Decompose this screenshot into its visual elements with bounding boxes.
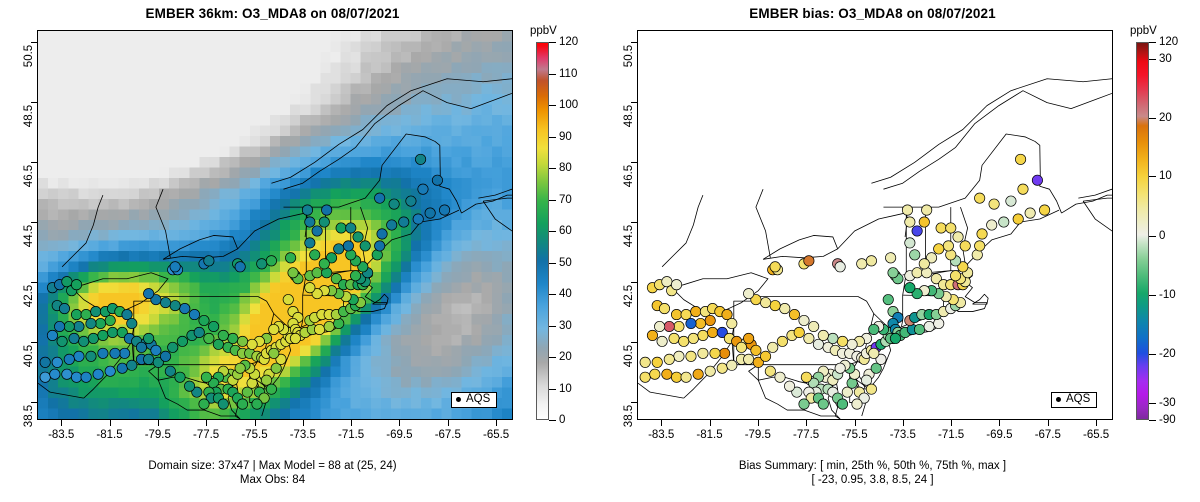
aqs-station-marker[interactable]	[415, 154, 425, 164]
bias-caption: Bias Summary: [ min, 25th %, 50th %, 75t…	[600, 459, 1145, 487]
colorbar-tick	[549, 168, 556, 169]
aqs-station-marker[interactable]	[74, 351, 84, 361]
y-axis-tick-label: 44.5	[23, 220, 35, 252]
aqs-station-marker[interactable]	[919, 217, 929, 227]
aqs-station-marker[interactable]	[353, 232, 363, 242]
colorbar-tick	[549, 326, 556, 327]
bias-aqs-legend: AQS	[1051, 392, 1097, 408]
aqs-station-marker[interactable]	[288, 268, 298, 278]
aqs-station-marker[interactable]	[180, 303, 190, 313]
colorbar-tick-label: 80	[559, 162, 572, 174]
aqs-station-marker[interactable]	[736, 342, 746, 352]
colorbar-tick	[549, 231, 556, 232]
aqs-station-marker[interactable]	[705, 315, 715, 325]
colorbar-tick-label: 30	[559, 320, 572, 332]
figure-canvas: EMBER 36km: O3_MDA8 on 08/07/2021 AQS pp…	[0, 0, 1200, 502]
aqs-station-marker[interactable]	[360, 241, 370, 251]
model-colorbar-strip	[536, 42, 549, 420]
aqs-station-marker[interactable]	[919, 259, 929, 269]
aqs-station-marker[interactable]	[52, 357, 62, 367]
aqs-station-marker[interactable]	[98, 330, 108, 340]
aqs-station-marker[interactable]	[727, 318, 737, 328]
aqs-station-marker[interactable]	[235, 363, 245, 373]
aqs-station-marker[interactable]	[334, 244, 344, 254]
aqs-station-marker[interactable]	[671, 309, 681, 319]
aqs-station-marker[interactable]	[710, 348, 720, 358]
aqs-station-marker[interactable]	[974, 241, 984, 251]
aqs-station-marker[interactable]	[170, 262, 180, 272]
aqs-station-marker[interactable]	[751, 345, 761, 355]
aqs-station-marker[interactable]	[866, 256, 876, 266]
aqs-station-marker[interactable]	[910, 250, 920, 260]
aqs-station-marker[interactable]	[686, 318, 696, 328]
aqs-station-marker[interactable]	[671, 372, 681, 382]
aqs-station-marker[interactable]	[801, 372, 811, 382]
x-axis-tick	[661, 420, 662, 426]
bias-colorbar-strip	[1136, 42, 1149, 420]
aqs-station-marker[interactable]	[235, 262, 245, 272]
aqs-station-marker[interactable]	[912, 268, 922, 278]
colorbar-tick	[1149, 403, 1156, 404]
aqs-station-marker[interactable]	[890, 333, 900, 343]
x-axis-tick	[255, 420, 256, 426]
aqs-station-marker[interactable]	[698, 348, 708, 358]
y-axis-tick-label: 48.5	[23, 100, 35, 132]
map-boundary-line	[62, 195, 103, 267]
model-aqs-legend: AQS	[451, 392, 497, 408]
aqs-station-marker[interactable]	[905, 238, 915, 248]
aqs-station-marker[interactable]	[674, 321, 684, 331]
aqs-station-marker[interactable]	[86, 351, 96, 361]
aqs-station-marker[interactable]	[160, 297, 170, 307]
aqs-station-marker[interactable]	[143, 333, 153, 343]
colorbar-tick-label: -90	[1159, 414, 1176, 426]
aqs-station-marker[interactable]	[835, 363, 845, 373]
aqs-station-marker[interactable]	[784, 381, 794, 391]
aqs-station-marker[interactable]	[1039, 205, 1049, 215]
aqs-station-marker[interactable]	[305, 217, 315, 227]
aqs-station-marker[interactable]	[194, 327, 204, 337]
aqs-station-marker[interactable]	[999, 217, 1009, 227]
bias-caption-line2: [ -23, 0.95, 3.8, 8.5, 24 ]	[600, 473, 1145, 487]
aqs-station-marker[interactable]	[659, 303, 669, 313]
aqs-station-marker[interactable]	[343, 241, 353, 251]
aqs-station-marker[interactable]	[946, 223, 956, 233]
aqs-station-marker[interactable]	[818, 330, 828, 340]
aqs-dot-icon	[1056, 397, 1061, 402]
aqs-station-marker[interactable]	[319, 259, 329, 269]
aqs-station-marker[interactable]	[777, 336, 787, 346]
aqs-station-marker[interactable]	[62, 369, 72, 379]
aqs-station-marker[interactable]	[717, 363, 727, 373]
aqs-station-marker[interactable]	[432, 175, 442, 185]
aqs-station-marker[interactable]	[127, 318, 137, 328]
aqs-station-marker[interactable]	[770, 262, 780, 272]
aqs-station-marker[interactable]	[698, 330, 708, 340]
aqs-station-marker[interactable]	[691, 306, 701, 316]
colorbar-tick-label: 10	[559, 383, 572, 395]
aqs-station-marker[interactable]	[218, 399, 228, 409]
aqs-station-marker[interactable]	[247, 339, 257, 349]
panel-model-title: EMBER 36km: O3_MDA8 on 08/07/2021	[0, 6, 545, 21]
colorbar-tick-label: 120	[559, 36, 578, 48]
aqs-station-marker[interactable]	[905, 283, 915, 293]
x-axis-tick	[806, 420, 807, 426]
aqs-station-marker[interactable]	[1032, 175, 1042, 185]
aqs-station-marker[interactable]	[389, 199, 399, 209]
x-axis-tick	[855, 420, 856, 426]
colorbar-tick	[549, 357, 556, 358]
aqs-station-marker[interactable]	[237, 399, 247, 409]
aqs-station-marker[interactable]	[71, 372, 81, 382]
y-axis-tick-label: 40.5	[623, 340, 635, 372]
aqs-station-marker[interactable]	[775, 372, 785, 382]
model-aqs-legend-label: AQS	[466, 394, 490, 406]
aqs-station-marker[interactable]	[310, 250, 320, 260]
aqs-station-marker[interactable]	[922, 205, 932, 215]
aqs-station-marker[interactable]	[804, 256, 814, 266]
aqs-station-marker[interactable]	[679, 336, 689, 346]
map-boundary-line	[483, 147, 512, 201]
aqs-station-marker[interactable]	[727, 360, 737, 370]
aqs-station-marker[interactable]	[74, 321, 84, 331]
aqs-station-marker[interactable]	[160, 351, 170, 361]
x-axis-tick	[303, 420, 304, 426]
aqs-station-marker[interactable]	[960, 241, 970, 251]
aqs-station-marker[interactable]	[228, 333, 238, 343]
aqs-station-marker[interactable]	[847, 339, 857, 349]
aqs-station-marker[interactable]	[69, 333, 79, 343]
model-colorbar-units: ppbV	[530, 25, 557, 37]
colorbar-tick	[1149, 236, 1156, 237]
aqs-station-marker[interactable]	[1006, 196, 1016, 206]
model-caption-line2: Max Obs: 84	[0, 473, 545, 487]
aqs-station-marker[interactable]	[902, 205, 912, 215]
aqs-station-marker[interactable]	[943, 241, 953, 251]
aqs-station-marker[interactable]	[64, 354, 74, 364]
aqs-station-marker[interactable]	[743, 354, 753, 364]
map-boundary-line	[638, 383, 684, 398]
bias-caption-line1: Bias Summary: [ min, 25th %, 50th %, 75t…	[600, 459, 1145, 473]
colorbar-tick	[549, 137, 556, 138]
aqs-station-marker[interactable]	[168, 342, 178, 352]
bias-map-plot[interactable]	[637, 30, 1113, 420]
map-boundary-line	[871, 79, 1112, 183]
aqs-station-marker[interactable]	[204, 256, 214, 266]
aqs-station-marker[interactable]	[93, 369, 103, 379]
aqs-station-marker[interactable]	[374, 241, 384, 251]
aqs-station-marker[interactable]	[201, 372, 211, 382]
aqs-station-marker[interactable]	[664, 354, 674, 364]
x-axis-tick	[61, 420, 62, 426]
aqs-station-marker[interactable]	[799, 315, 809, 325]
aqs-station-marker[interactable]	[54, 321, 64, 331]
aqs-station-marker[interactable]	[837, 336, 847, 346]
aqs-station-marker[interactable]	[175, 372, 185, 382]
aqs-station-marker[interactable]	[283, 294, 293, 304]
y-axis-tick-label: 46.5	[623, 160, 635, 192]
aqs-station-marker[interactable]	[257, 259, 267, 269]
aqs-station-marker[interactable]	[117, 363, 127, 373]
aqs-station-marker[interactable]	[305, 238, 315, 248]
aqs-station-marker[interactable]	[765, 366, 775, 376]
aqs-station-marker[interactable]	[695, 318, 705, 328]
y-axis-tick-label: 42.5	[23, 280, 35, 312]
aqs-station-marker[interactable]	[640, 357, 650, 367]
aqs-station-marker[interactable]	[119, 348, 129, 358]
aqs-station-marker[interactable]	[189, 309, 199, 319]
panel-bias-title: EMBER bias: O3_MDA8 on 08/07/2021	[600, 6, 1145, 21]
aqs-station-marker[interactable]	[857, 259, 867, 269]
aqs-station-marker[interactable]	[989, 199, 999, 209]
aqs-station-marker[interactable]	[869, 348, 879, 358]
aqs-station-marker[interactable]	[654, 321, 664, 331]
aqs-station-marker[interactable]	[934, 244, 944, 254]
aqs-station-marker[interactable]	[406, 196, 416, 206]
aqs-station-marker[interactable]	[336, 223, 346, 233]
colorbar-tick	[549, 200, 556, 201]
aqs-station-marker[interactable]	[413, 214, 423, 224]
model-map-plot[interactable]	[37, 30, 513, 420]
colorbar-tick-label: 0	[1159, 230, 1165, 242]
aqs-station-marker[interactable]	[98, 348, 108, 358]
aqs-station-marker[interactable]	[95, 318, 105, 328]
aqs-station-marker[interactable]	[269, 324, 279, 334]
aqs-station-marker[interactable]	[671, 280, 681, 290]
colorbar-tick	[1149, 118, 1156, 119]
map-boundary-line	[662, 195, 703, 267]
aqs-station-marker[interactable]	[987, 220, 997, 230]
aqs-station-marker[interactable]	[760, 351, 770, 361]
x-axis-tick-label: -65.5	[1066, 429, 1126, 441]
aqs-station-marker[interactable]	[885, 253, 895, 263]
aqs-station-marker[interactable]	[974, 193, 984, 203]
aqs-station-marker[interactable]	[290, 333, 300, 343]
aqs-station-marker[interactable]	[88, 333, 98, 343]
aqs-station-marker[interactable]	[105, 315, 115, 325]
aqs-station-marker[interactable]	[693, 369, 703, 379]
x-axis-tick	[999, 420, 1000, 426]
aqs-station-marker[interactable]	[912, 226, 922, 236]
aqs-station-marker[interactable]	[662, 369, 672, 379]
aqs-station-marker[interactable]	[647, 330, 657, 340]
bias-colorbar-units: ppbV	[1130, 25, 1157, 37]
colorbar-tick	[1149, 420, 1156, 421]
aqs-station-marker[interactable]	[71, 280, 81, 290]
aqs-station-marker[interactable]	[399, 217, 409, 227]
aqs-station-marker[interactable]	[804, 333, 814, 343]
y-axis-tick-label: 50.5	[23, 40, 35, 72]
aqs-station-marker[interactable]	[266, 256, 276, 266]
aqs-station-marker[interactable]	[312, 268, 322, 278]
colorbar-tick-label: 20	[559, 351, 572, 363]
colorbar-tick-label: 30	[1159, 53, 1172, 65]
aqs-station-marker[interactable]	[888, 268, 898, 278]
map-boundary-line	[271, 79, 512, 183]
aqs-station-marker[interactable]	[252, 399, 262, 409]
aqs-station-marker[interactable]	[266, 384, 276, 394]
aqs-station-marker[interactable]	[425, 208, 435, 218]
aqs-station-marker[interactable]	[50, 369, 60, 379]
aqs-station-marker[interactable]	[760, 297, 770, 307]
aqs-station-marker[interactable]	[91, 306, 101, 316]
colorbar-tick-label: 10	[1159, 170, 1172, 182]
aqs-station-marker[interactable]	[914, 324, 924, 334]
aqs-station-marker[interactable]	[177, 336, 187, 346]
aqs-station-marker[interactable]	[1025, 208, 1035, 218]
aqs-station-marker[interactable]	[924, 321, 934, 331]
aqs-station-marker[interactable]	[143, 354, 153, 364]
aqs-station-marker[interactable]	[688, 333, 698, 343]
colorbar-tick	[1149, 295, 1156, 296]
aqs-station-marker[interactable]	[302, 205, 312, 215]
aqs-station-marker[interactable]	[346, 223, 356, 233]
aqs-station-marker[interactable]	[285, 253, 295, 263]
colorbar-tick	[1149, 42, 1156, 43]
aqs-station-marker[interactable]	[743, 333, 753, 343]
aqs-station-marker[interactable]	[40, 372, 50, 382]
aqs-station-marker[interactable]	[86, 318, 96, 328]
aqs-station-marker[interactable]	[151, 345, 161, 355]
colorbar-tick	[1149, 59, 1156, 60]
colorbar-tick-label: -20	[1159, 348, 1176, 360]
map-boundary-line	[163, 235, 238, 259]
aqs-station-marker[interactable]	[953, 232, 963, 242]
aqs-station-marker[interactable]	[418, 184, 428, 194]
aqs-station-marker[interactable]	[789, 309, 799, 319]
colorbar-tick-label: -10	[1159, 289, 1176, 301]
aqs-station-marker[interactable]	[143, 288, 153, 298]
aqs-station-marker[interactable]	[170, 300, 180, 310]
aqs-station-marker[interactable]	[237, 336, 247, 346]
aqs-station-marker[interactable]	[1015, 154, 1025, 164]
aqs-station-marker[interactable]	[657, 336, 667, 346]
aqs-dot-icon	[456, 397, 461, 402]
aqs-station-marker[interactable]	[869, 324, 879, 334]
aqs-station-marker[interactable]	[950, 271, 960, 281]
aqs-station-marker[interactable]	[705, 366, 715, 376]
map-boundary-line	[756, 189, 770, 258]
aqs-station-marker[interactable]	[59, 303, 69, 313]
y-axis-tick-label: 40.5	[23, 340, 35, 372]
aqs-station-marker[interactable]	[1013, 214, 1023, 224]
aqs-station-marker[interactable]	[79, 336, 89, 346]
colorbar-tick	[549, 420, 556, 421]
colorbar-tick	[1149, 176, 1156, 177]
aqs-station-marker[interactable]	[866, 384, 876, 394]
aqs-station-marker[interactable]	[305, 283, 315, 293]
aqs-station-marker[interactable]	[905, 217, 915, 227]
aqs-station-marker[interactable]	[322, 205, 332, 215]
aqs-station-marker[interactable]	[837, 399, 847, 409]
aqs-station-marker[interactable]	[47, 330, 57, 340]
aqs-station-marker[interactable]	[835, 262, 845, 272]
aqs-station-marker[interactable]	[743, 288, 753, 298]
y-axis-tick-label: 50.5	[623, 40, 635, 72]
aqs-station-marker[interactable]	[312, 226, 322, 236]
colorbar-tick-label: 60	[559, 225, 572, 237]
x-axis-tick	[448, 420, 449, 426]
aqs-station-marker[interactable]	[852, 399, 862, 409]
x-axis-tick	[351, 420, 352, 426]
aqs-station-marker[interactable]	[1018, 184, 1028, 194]
x-axis-tick	[496, 420, 497, 426]
aqs-station-marker[interactable]	[977, 229, 987, 239]
map-boundary-line	[38, 383, 84, 398]
colorbar-tick-label: 40	[559, 288, 572, 300]
aqs-station-marker[interactable]	[136, 342, 146, 352]
aqs-station-marker[interactable]	[218, 330, 228, 340]
aqs-station-marker[interactable]	[828, 333, 838, 343]
aqs-station-marker[interactable]	[64, 321, 74, 331]
aqs-station-marker[interactable]	[681, 372, 691, 382]
aqs-station-marker[interactable]	[808, 321, 818, 331]
aqs-station-marker[interactable]	[377, 229, 387, 239]
y-axis-tick-label: 38.5	[623, 400, 635, 432]
x-axis-tick	[710, 420, 711, 426]
aqs-station-marker[interactable]	[664, 321, 674, 331]
aqs-station-marker[interactable]	[184, 381, 194, 391]
aqs-station-marker[interactable]	[936, 223, 946, 233]
aqs-station-marker[interactable]	[208, 321, 218, 331]
colorbar-tick-label: 70	[559, 194, 572, 206]
aqs-station-marker[interactable]	[71, 309, 81, 319]
aqs-station-marker[interactable]	[57, 336, 67, 346]
aqs-station-marker[interactable]	[883, 294, 893, 304]
aqs-station-marker[interactable]	[269, 348, 279, 358]
colorbar-tick-label: 0	[559, 414, 565, 426]
aqs-station-marker[interactable]	[350, 271, 360, 281]
aqs-station-marker[interactable]	[374, 193, 384, 203]
colorbar-tick	[549, 389, 556, 390]
aqs-station-marker[interactable]	[314, 324, 324, 334]
aqs-station-marker[interactable]	[127, 360, 137, 370]
aqs-station-marker[interactable]	[719, 348, 729, 358]
aqs-station-marker[interactable]	[105, 366, 115, 376]
aqs-station-marker[interactable]	[165, 366, 175, 376]
map-boundary-line	[283, 134, 461, 213]
map-boundary-line	[1083, 177, 1112, 231]
aqs-station-marker[interactable]	[650, 369, 660, 379]
aqs-station-marker[interactable]	[770, 300, 780, 310]
aqs-station-marker[interactable]	[686, 351, 696, 361]
aqs-station-marker[interactable]	[794, 327, 804, 337]
aqs-station-marker[interactable]	[204, 333, 214, 343]
aqs-station-marker[interactable]	[40, 357, 50, 367]
aqs-station-marker[interactable]	[780, 303, 790, 313]
aqs-station-marker[interactable]	[652, 357, 662, 367]
aqs-station-marker[interactable]	[768, 342, 778, 352]
aqs-station-marker[interactable]	[81, 372, 91, 382]
x-axis-tick	[1096, 420, 1097, 426]
aqs-station-marker[interactable]	[199, 315, 209, 325]
aqs-station-marker[interactable]	[640, 372, 650, 382]
aqs-station-marker[interactable]	[319, 217, 329, 227]
aqs-station-marker[interactable]	[707, 327, 717, 337]
aqs-station-marker[interactable]	[818, 399, 828, 409]
aqs-station-marker[interactable]	[669, 333, 679, 343]
map-boundary-line	[283, 91, 512, 189]
aqs-station-marker[interactable]	[324, 321, 334, 331]
aqs-station-marker[interactable]	[439, 205, 449, 215]
model-caption: Domain size: 37x47 | Max Model = 88 at (…	[0, 459, 545, 487]
aqs-station-marker[interactable]	[199, 399, 209, 409]
aqs-station-marker[interactable]	[674, 351, 684, 361]
aqs-station-marker[interactable]	[107, 327, 117, 337]
aqs-station-marker[interactable]	[799, 399, 809, 409]
aqs-station-marker[interactable]	[110, 348, 120, 358]
aqs-station-marker[interactable]	[387, 220, 397, 230]
